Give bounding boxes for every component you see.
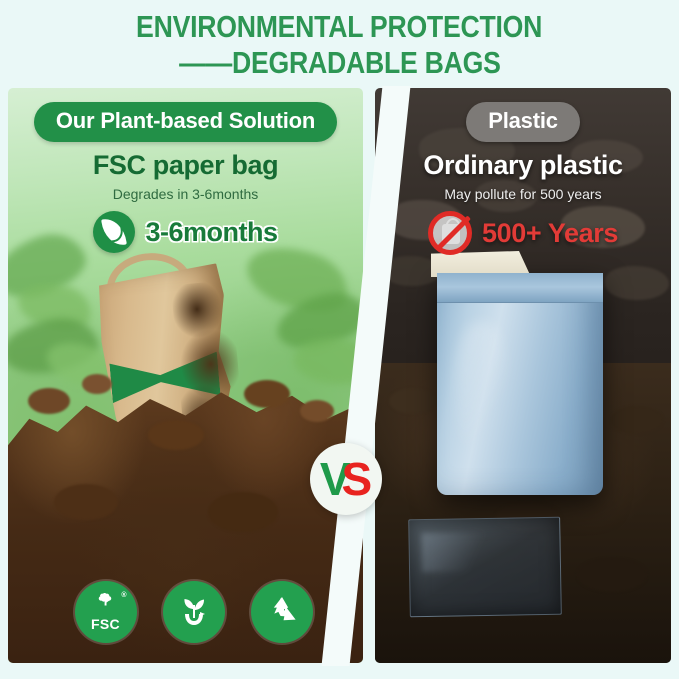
- plant-based-pill: Our Plant-based Solution: [34, 102, 337, 142]
- plastic-bag-image: [437, 273, 603, 495]
- versus-s: S: [342, 456, 373, 502]
- soil-clump: [82, 374, 112, 394]
- registered-mark: ®: [121, 592, 126, 599]
- fsc-tree-icon: [93, 593, 119, 615]
- page-title-line-1: ENVIRONMENTAL PROTECTION: [136, 11, 542, 42]
- left-badge-row: 3-6months: [8, 211, 363, 253]
- soil-clump: [577, 558, 647, 592]
- page-title-line-2: ——DEGRADABLE BAGS: [179, 47, 500, 78]
- rubble-debris: [605, 266, 669, 300]
- plastic-pill: Plastic: [466, 102, 580, 142]
- versus-badge: V S: [310, 443, 382, 515]
- soil-clump: [148, 420, 204, 450]
- soil-clump: [611, 406, 663, 434]
- soil-clump: [244, 380, 290, 408]
- soil-clump: [389, 388, 437, 414]
- recyclable-badge: [251, 581, 313, 643]
- panel-plant-based: Our Plant-based Solution FSC paper bag D…: [8, 88, 363, 663]
- left-product-note: Degrades in 3-6months: [8, 186, 363, 202]
- plastic-bag-seal: [437, 273, 603, 303]
- fsc-badge: ® FSC: [75, 581, 137, 643]
- right-product-note: May pollute for 500 years: [375, 186, 671, 202]
- right-product-title: Ordinary plastic: [375, 150, 671, 181]
- certification-badges: ® FSC: [16, 581, 363, 643]
- left-product-title: FSC paper bag: [8, 150, 363, 181]
- soil-clump: [208, 492, 278, 532]
- fsc-label: FSC: [75, 616, 137, 632]
- left-badge-value: 3-6months: [145, 217, 277, 248]
- compostable-badge: [163, 581, 225, 643]
- buried-plastic-sheet: [408, 517, 562, 618]
- right-badge-value: 500+ Years: [482, 218, 618, 249]
- leaf-icon: [93, 211, 135, 253]
- page-title: ENVIRONMENTAL PROTECTION ——DEGRADABLE BA…: [0, 0, 679, 88]
- soil-clump: [28, 388, 70, 414]
- plant-sprout-icon: [174, 592, 214, 632]
- right-badge-row: 500+ Years: [375, 211, 671, 255]
- comparison-panels: Our Plant-based Solution FSC paper bag D…: [0, 88, 679, 663]
- left-header-text: Our Plant-based Solution FSC paper bag D…: [8, 102, 363, 253]
- plastic-bag-highlight: [457, 322, 507, 460]
- panel-ordinary-plastic: Plastic Ordinary plastic May pollute for…: [375, 88, 671, 663]
- soil-clump: [54, 484, 118, 520]
- recycle-icon: [263, 593, 301, 631]
- soil-clump: [300, 400, 334, 422]
- right-header-text: Plastic Ordinary plastic May pollute for…: [375, 102, 671, 255]
- no-plastic-bag-icon: [428, 211, 472, 255]
